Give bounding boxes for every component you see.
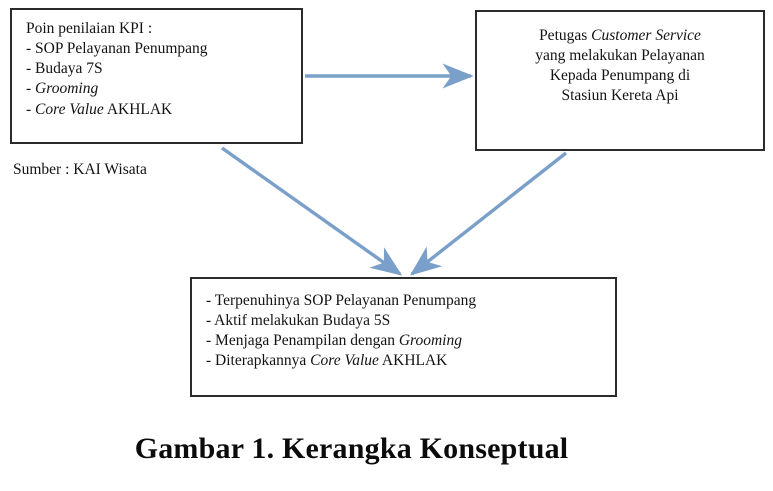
kpi-grooming-italic: Grooming <box>35 80 98 97</box>
outcome-line-budaya: - Aktif melakukan Budaya 5S <box>206 311 615 331</box>
outcome-line-grooming: - Menjaga Penampilan dengan Grooming <box>206 331 615 351</box>
kpi-corevalue-rest: AKHLAK <box>104 101 172 118</box>
box-customer-service-officer[interactable]: Petugas Customer Service yang melakukan … <box>475 10 765 151</box>
outcome-corevalue-italic: Core Value <box>310 352 379 369</box>
arrow-officer-to-outcomes <box>412 153 566 274</box>
kpi-line-sop: - SOP Pelayanan Penumpang <box>26 39 301 59</box>
outcome-corevalue-plain: - Diterapkannya <box>206 352 310 369</box>
box-outcomes[interactable]: - Terpenuhinya SOP Pelayanan Penumpang -… <box>190 277 617 397</box>
officer-line-3: Kepada Penumpang di <box>487 66 753 86</box>
kpi-line-title: Poin penilaian KPI : <box>26 19 301 39</box>
outcome-line-sop: - Terpenuhinya SOP Pelayanan Penumpang <box>206 291 615 311</box>
officer-line-1-italic: Customer Service <box>591 27 701 44</box>
kpi-line-budaya: - Budaya 7S <box>26 59 301 79</box>
diagram-canvas: Poin penilaian KPI : - SOP Pelayanan Pen… <box>0 0 773 491</box>
outcome-line-corevalue: - Diterapkannya Core Value AKHLAK <box>206 351 615 371</box>
kpi-grooming-dash: - <box>26 80 35 97</box>
officer-line-4: Stasiun Kereta Api <box>487 86 753 106</box>
kpi-corevalue-dash: - <box>26 101 35 118</box>
outcome-grooming-plain: - Menjaga Penampilan dengan <box>206 332 399 349</box>
figure-caption: Gambar 1. Kerangka Konseptual <box>0 432 703 466</box>
kpi-line-grooming: - Grooming <box>26 79 301 99</box>
arrow-kpi-to-outcomes <box>222 148 400 274</box>
officer-line-1-plain: Petugas <box>539 27 591 44</box>
outcome-corevalue-rest: AKHLAK <box>379 352 447 369</box>
officer-line-2: yang melakukan Pelayanan <box>487 46 753 66</box>
source-note: Sumber : KAI Wisata <box>13 160 147 180</box>
kpi-corevalue-italic: Core Value <box>35 101 104 118</box>
officer-line-1: Petugas Customer Service <box>487 26 753 46</box>
outcome-grooming-italic: Grooming <box>399 332 462 349</box>
box-kpi-points[interactable]: Poin penilaian KPI : - SOP Pelayanan Pen… <box>10 8 303 144</box>
kpi-line-corevalue: - Core Value AKHLAK <box>26 100 301 120</box>
